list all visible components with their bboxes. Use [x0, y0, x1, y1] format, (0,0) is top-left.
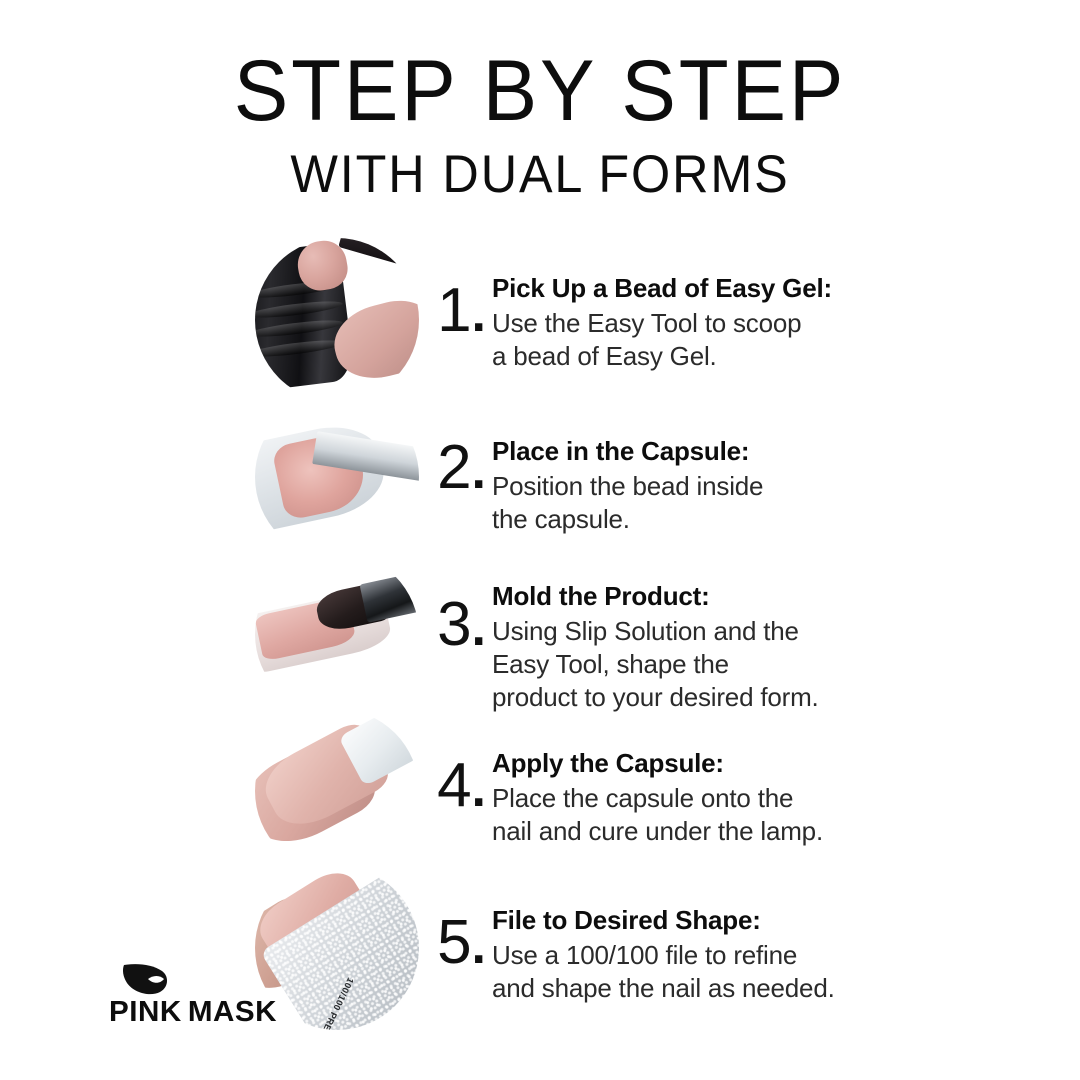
body-line: nail and cure under the lamp. [492, 815, 932, 848]
step-3-text: Mold the Product: Using Slip Solution an… [492, 580, 932, 714]
body-line: the capsule. [492, 503, 932, 536]
step-1-text: Pick Up a Bead of Easy Gel: Use the Easy… [492, 272, 932, 373]
body-line: Using Slip Solution and the [492, 615, 932, 648]
body-line: a bead of Easy Gel. [492, 340, 932, 373]
step-2-heading: Place in the Capsule: [492, 435, 932, 468]
step-4-heading: Apply the Capsule: [492, 747, 932, 780]
step-item: 4. Apply the Capsule: Place the capsule … [0, 709, 1080, 866]
step-item: 1. Pick Up a Bead of Easy Gel: Use the E… [0, 238, 1080, 395]
step-2-body: Position the bead inside the capsule. [492, 470, 932, 537]
step-3-number: 3. [428, 594, 486, 656]
steps-list: 1. Pick Up a Bead of Easy Gel: Use the E… [0, 238, 1080, 1023]
page-title: STEP BY STEP [27, 48, 1053, 134]
body-line: Use a 100/100 file to refine [492, 939, 932, 972]
scene-capsule [255, 395, 419, 559]
step-2-image [255, 395, 419, 559]
brand-logo: PINKMASK [78, 962, 308, 1027]
step-4-body: Place the capsule onto the nail and cure… [492, 782, 932, 849]
step-1-body: Use the Easy Tool to scoop a bead of Eas… [492, 307, 932, 374]
body-line: Easy Tool, shape the [492, 648, 932, 681]
step-5-number: 5. [428, 912, 486, 974]
step-1-number: 1. [428, 280, 486, 342]
step-5-text: File to Desired Shape: Use a 100/100 fil… [492, 904, 932, 1005]
scene-mold [255, 552, 419, 716]
scene-apply [255, 709, 419, 873]
step-item: 3. Mold the Product: Using Slip Solution… [0, 552, 1080, 709]
body-line: Use the Easy Tool to scoop [492, 307, 932, 340]
body-line: Place the capsule onto the [492, 782, 932, 815]
logo-word-mask: MASK [188, 996, 277, 1028]
step-3-heading: Mold the Product: [492, 580, 932, 613]
step-item: 2. Place in the Capsule: Position the be… [0, 395, 1080, 552]
step-4-number: 4. [428, 755, 486, 817]
step-3-body: Using Slip Solution and the Easy Tool, s… [492, 615, 932, 715]
body-line: Position the bead inside [492, 470, 932, 503]
step-4-image [255, 709, 419, 873]
scene-gel-bottle [255, 238, 419, 402]
step-5-body: Use a 100/100 file to refine and shape t… [492, 939, 932, 1006]
step-3-image [255, 552, 419, 716]
step-5-heading: File to Desired Shape: [492, 904, 932, 937]
page-subtitle: WITH DUAL FORMS [27, 148, 1053, 201]
step-2-number: 2. [428, 437, 486, 499]
step-2-text: Place in the Capsule: Position the bead … [492, 435, 932, 536]
brush-handle [360, 573, 419, 624]
logo-wordmark: PINKMASK [76, 998, 311, 1027]
step-4-text: Apply the Capsule: Place the capsule ont… [492, 747, 932, 848]
body-line: and shape the nail as needed. [492, 972, 932, 1005]
easy-tool-shape [339, 238, 419, 272]
infographic-page: STEP BY STEP WITH DUAL FORMS 1. Pick Up … [0, 0, 1080, 1080]
leaf-icon [122, 962, 170, 996]
step-1-heading: Pick Up a Bead of Easy Gel: [492, 272, 932, 305]
logo-word-pink: PINK [109, 996, 182, 1028]
step-1-image [255, 238, 419, 402]
